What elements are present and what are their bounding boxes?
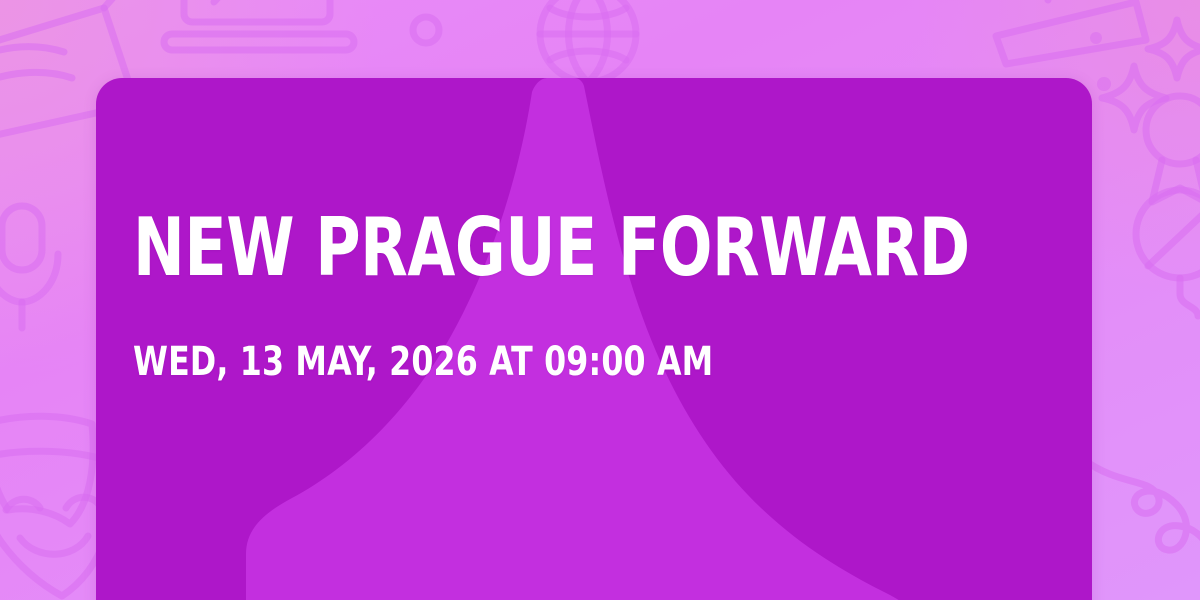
confetti-dot-icon [404, 8, 448, 52]
card-text-block: NEW PRAGUE FORWARD WED, 13 MAY, 2026 AT … [133, 78, 1033, 600]
streamer-swirl-icon [1080, 456, 1200, 600]
presentation-screen-icon [168, 0, 358, 58]
balloon-icon [1128, 178, 1200, 318]
event-card[interactable]: NEW PRAGUE FORWARD WED, 13 MAY, 2026 AT … [96, 78, 1092, 600]
event-banner: NEW PRAGUE FORWARD WED, 13 MAY, 2026 AT … [0, 0, 1200, 600]
sparkle-icon [1142, 14, 1200, 84]
event-title: NEW PRAGUE FORWARD [133, 208, 970, 288]
podium-icon [986, 0, 1166, 64]
award-ribbon-icon [1136, 86, 1200, 206]
microphone-icon [0, 198, 80, 338]
sparkle-icon [1094, 58, 1174, 138]
event-datetime: WED, 13 MAY, 2026 AT 09:00 AM [133, 342, 713, 382]
